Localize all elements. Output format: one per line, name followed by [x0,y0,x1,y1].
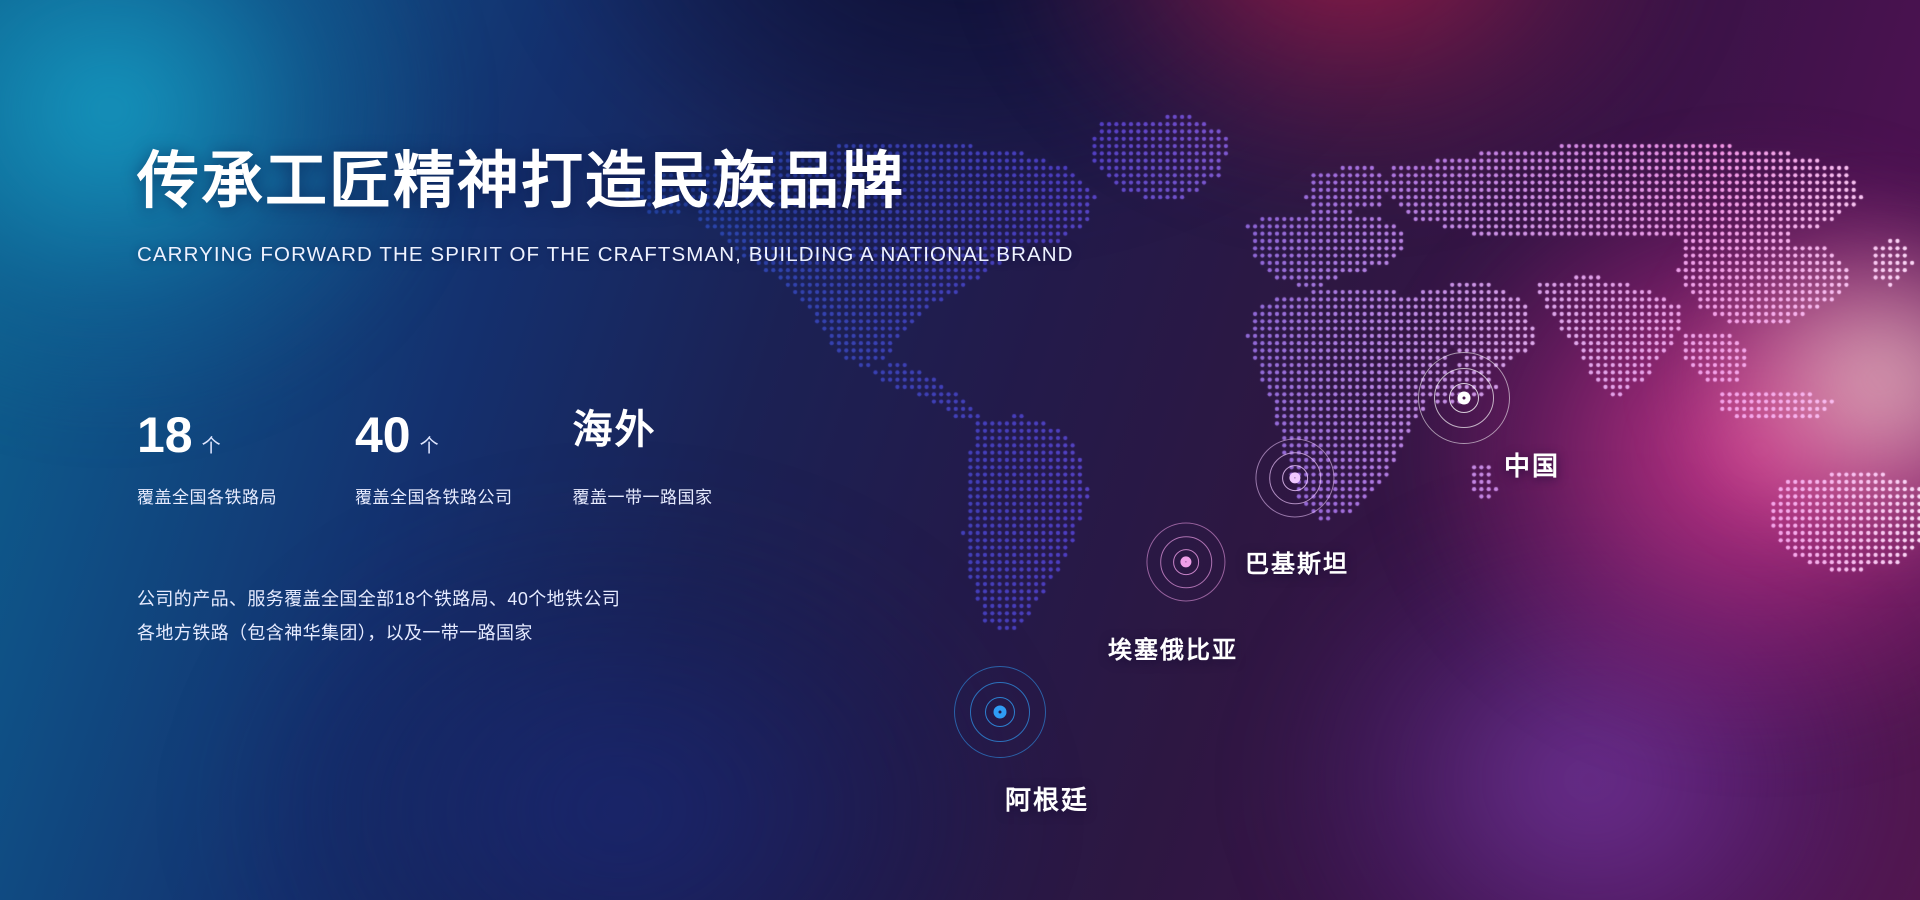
stat-unit: 个 [202,431,221,458]
stat-value-row: 海外 [573,410,713,466]
marker-label: 埃塞俄比亚 [1108,630,1238,665]
stat-item-1: 40 个 覆盖全国各铁路公司 [355,410,513,508]
stat-caption: 覆盖全国各铁路局 [137,483,277,508]
stat-number: 40 [355,410,411,460]
body-line-1: 各地方铁路（包含神华集团），以及一带一路国家 [137,616,620,650]
stat-value-row: 18 个 [137,410,277,466]
marker-label: 中国 [1504,446,1560,483]
stat-number: 18 [137,410,193,460]
stats-row: 18 个 覆盖全国各铁路局 40 个 覆盖全国各铁路公司 海外 覆盖一带一路国家 [137,410,791,508]
stat-item-2: 海外 覆盖一带一路国家 [573,410,713,508]
body-paragraph: 公司的产品、服务覆盖全国全部18个铁路局、40个地铁公司 各地方铁路（包含神华集… [137,582,620,650]
marker-ring-3 [1458,392,1471,405]
copy-block: 传承工匠精神打造民族品牌 CARRYING FORWARD THE SPIRIT… [137,150,1017,267]
marker-label: 巴基斯坦 [1245,544,1349,579]
stat-item-0: 18 个 覆盖全国各铁路局 [137,410,277,508]
stat-number: 海外 [573,410,657,450]
stat-caption: 覆盖一带一路国家 [573,483,713,508]
page-title: 传承工匠精神打造民族品牌 [137,150,1017,213]
banner-stage: 传承工匠精神打造民族品牌 CARRYING FORWARD THE SPIRIT… [0,0,1920,900]
stat-caption: 覆盖全国各铁路公司 [355,483,513,508]
marker-ring-3 [994,706,1007,719]
page-subtitle: CARRYING FORWARD THE SPIRIT OF THE CRAFT… [137,243,1017,267]
stat-unit: 个 [420,431,439,458]
stat-value-row: 40 个 [355,410,513,466]
body-line-0: 公司的产品、服务覆盖全国全部18个铁路局、40个地铁公司 [137,582,620,616]
marker-label: 阿根廷 [1005,780,1089,817]
